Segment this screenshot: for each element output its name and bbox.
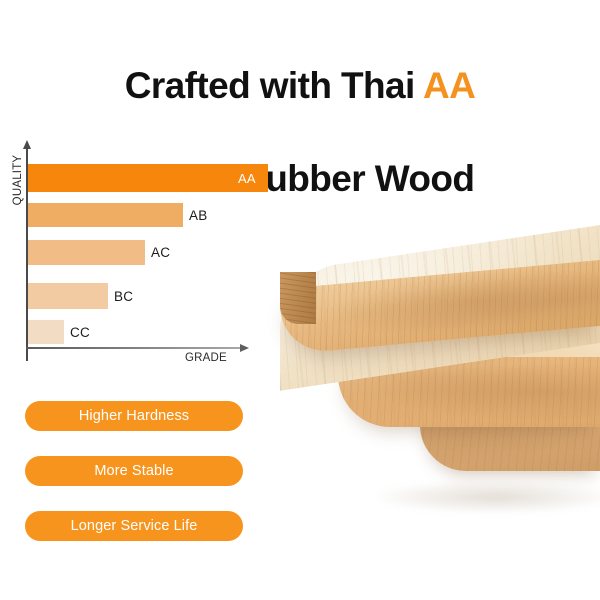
bar-label-ac: AC xyxy=(151,245,170,260)
bar-ac xyxy=(28,240,145,265)
feature-pill-more-stable[interactable]: More Stable xyxy=(25,456,243,486)
bar-label-aa: AA xyxy=(238,171,256,186)
board-stack-shadow xyxy=(370,480,600,514)
x-axis-arrow-icon xyxy=(240,344,249,352)
title-line-1-prefix: Crafted with Thai xyxy=(125,65,423,106)
bar-row: AA xyxy=(28,164,264,192)
title-accent-aa: AA xyxy=(423,65,475,106)
y-axis-label: QUALITY xyxy=(12,144,24,216)
bar-label-bc: BC xyxy=(114,289,133,304)
x-axis-label: GRADE xyxy=(185,352,227,364)
bar-row: BC xyxy=(28,283,133,309)
bar-cc xyxy=(28,320,64,344)
bar-bc xyxy=(28,283,108,309)
quality-grade-bar-chart: QUALITY GRADE AAABACBCCC xyxy=(0,130,290,375)
feature-pill-list: Higher HardnessMore StableLonger Service… xyxy=(25,401,243,566)
x-axis-line xyxy=(26,347,244,349)
bar-label-cc: CC xyxy=(70,325,90,340)
bar-label-ab: AB xyxy=(189,208,207,223)
bar-row: AB xyxy=(28,203,207,227)
bar-aa xyxy=(28,164,268,192)
feature-pill-higher-hardness[interactable]: Higher Hardness xyxy=(25,401,243,431)
product-photo-rubber-wood-boards xyxy=(250,200,600,530)
bar-row: AC xyxy=(28,240,170,265)
bar-ab xyxy=(28,203,183,227)
title-line-1: Crafted with Thai AA xyxy=(0,63,600,110)
feature-pill-longer-service-life[interactable]: Longer Service Life xyxy=(25,511,243,541)
bar-row: CC xyxy=(28,320,90,344)
